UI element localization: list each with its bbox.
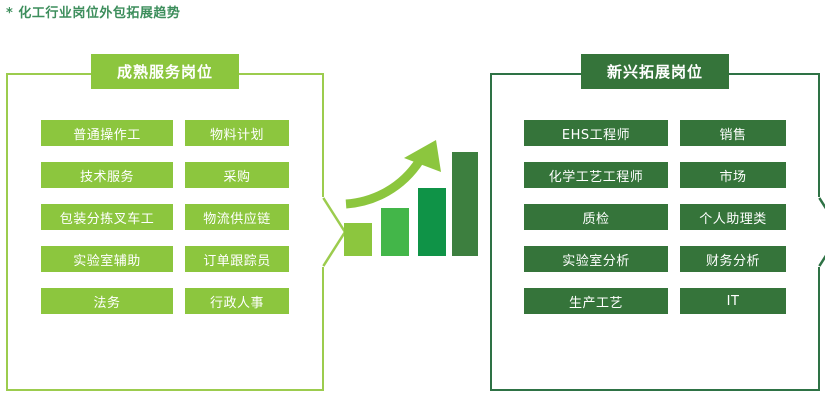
chip-item[interactable]: 普通操作工 (41, 120, 173, 146)
chart-bar (418, 188, 446, 256)
chart-bar (344, 223, 372, 256)
chip-item[interactable]: 技术服务 (41, 162, 173, 188)
chip-item[interactable]: 化学工艺工程师 (524, 162, 668, 188)
chip-item[interactable]: 物料计划 (185, 120, 289, 146)
panel-mature-service-roles: 成熟服务岗位 普通操作工 物料计划 技术服务 采购 包装分拣叉车工 物流供应链 … (6, 73, 324, 391)
chip-item[interactable]: 质检 (524, 204, 668, 230)
chip-item[interactable]: 采购 (185, 162, 289, 188)
page-title: * 化工行业岗位外包拓展趋势 (6, 2, 180, 21)
chip-item[interactable]: 销售 (680, 120, 786, 146)
chip-item[interactable]: 个人助理类 (680, 204, 786, 230)
chip-item[interactable]: 法务 (41, 288, 173, 314)
chip-item[interactable]: 生产工艺 (524, 288, 668, 314)
panel-right-header: 新兴拓展岗位 (581, 54, 729, 89)
chip-item[interactable]: 市场 (680, 162, 786, 188)
panel-left-chip-grid: 普通操作工 物料计划 技术服务 采购 包装分拣叉车工 物流供应链 实验室辅助 订… (6, 120, 324, 314)
growth-chart-graphic (340, 138, 480, 256)
chip-item[interactable]: 物流供应链 (185, 204, 289, 230)
chip-item[interactable]: 实验室分析 (524, 246, 668, 272)
chip-item[interactable]: IT (680, 288, 786, 314)
chip-item[interactable]: 订单跟踪员 (185, 246, 289, 272)
chip-item[interactable]: 包装分拣叉车工 (41, 204, 173, 230)
panel-right-chip-grid: EHS工程师 销售 化学工艺工程师 市场 质检 个人助理类 实验室分析 财务分析… (490, 120, 820, 314)
panel-emerging-roles: 新兴拓展岗位 EHS工程师 销售 化学工艺工程师 市场 质检 个人助理类 实验室… (490, 73, 820, 391)
growth-bar-chart (340, 138, 480, 256)
chart-bar (452, 152, 478, 256)
chart-bar (381, 208, 409, 256)
chip-item[interactable]: 财务分析 (680, 246, 786, 272)
chip-item[interactable]: EHS工程师 (524, 120, 668, 146)
panel-left-header: 成熟服务岗位 (91, 54, 239, 89)
chip-item[interactable]: 行政人事 (185, 288, 289, 314)
chip-item[interactable]: 实验室辅助 (41, 246, 173, 272)
